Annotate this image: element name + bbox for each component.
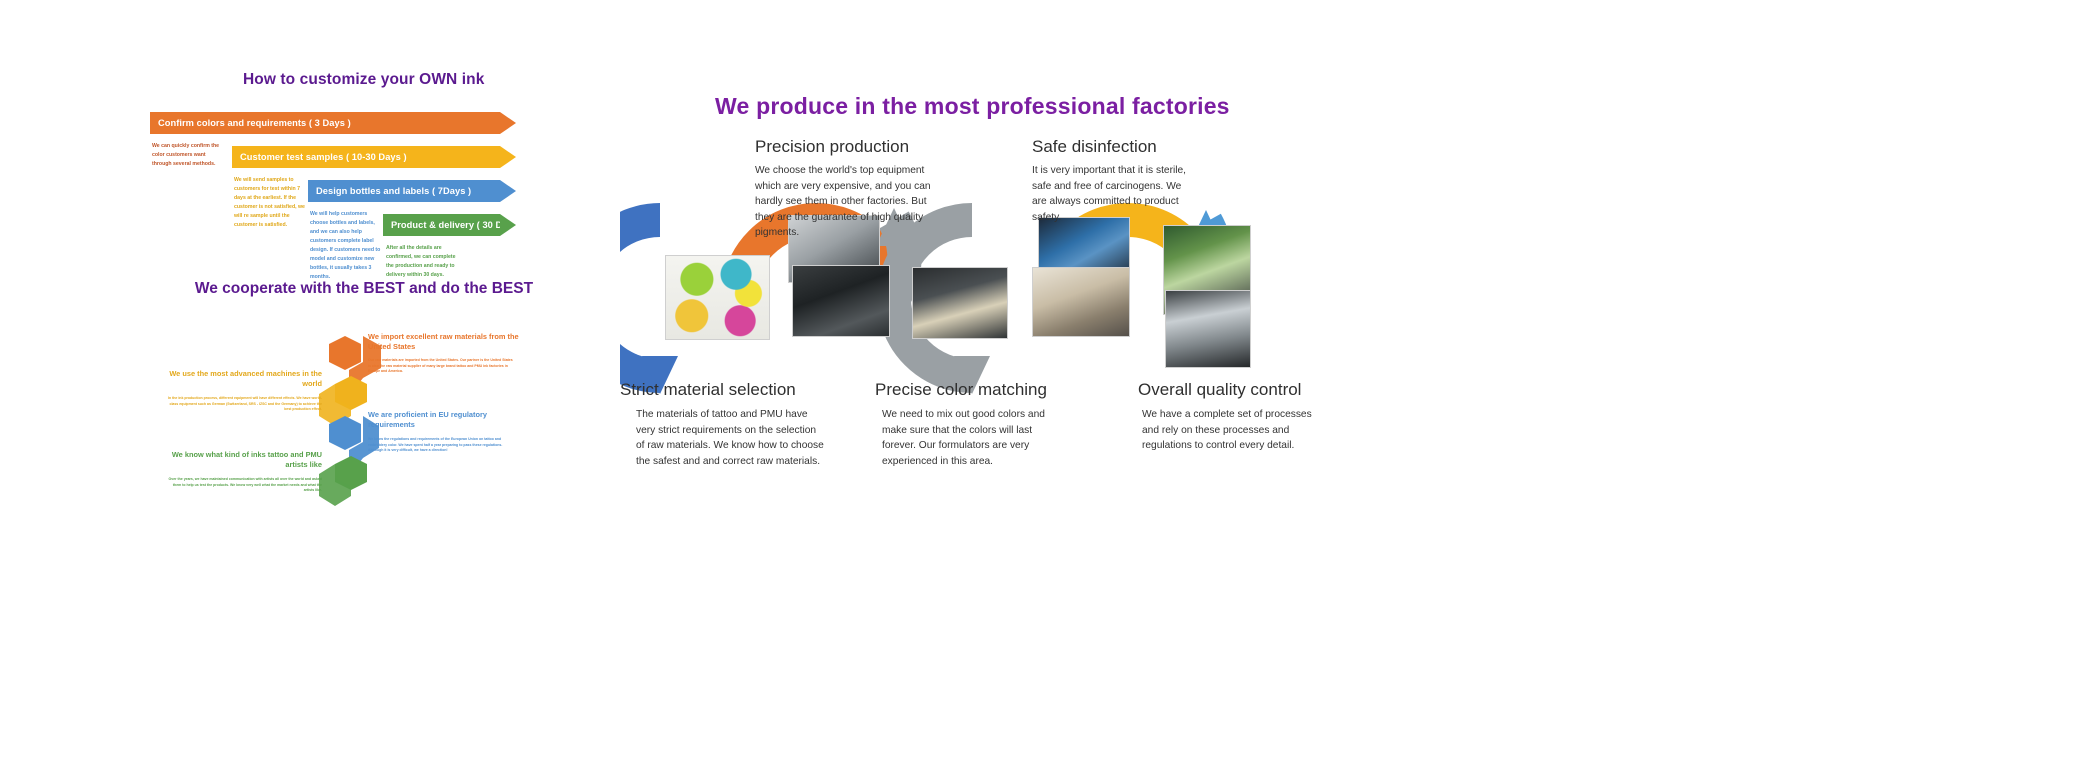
arrow-tip-icon	[500, 180, 516, 202]
step-body-confirm: We can quickly confirm the color custome…	[152, 142, 224, 169]
photo-quality-inspection	[1165, 290, 1251, 368]
step-arrow-delivery: Product & delivery ( 30 Days )	[383, 214, 500, 236]
photo-color-testing-table	[912, 267, 1008, 339]
hex-body-eu-regulatory: We know the regulations and requirements…	[368, 437, 516, 454]
arrow-tip-icon	[500, 112, 516, 134]
page-title-factories: We produce in the most professional fact…	[715, 93, 1230, 120]
page-root: How to customize your OWN ink Confirm co…	[0, 0, 2073, 758]
photo-lab-sample-trays	[1032, 267, 1130, 337]
hex-title-machines: We use the most advanced machines in the…	[150, 369, 322, 389]
step-arrow-design: Design bottles and labels ( 7Days )	[308, 180, 500, 202]
hex-body-raw-materials: Our raw materials are imported from the …	[368, 358, 516, 375]
photo-dark-equipment	[792, 265, 890, 337]
step-body-design: We will help customers choose bottles an…	[310, 210, 382, 282]
hex-body-artist-inks: Over the years, we have maintained commu…	[162, 477, 322, 494]
customize-ink-panel: How to customize your OWN ink Confirm co…	[150, 60, 570, 530]
feature-title-precision: Precision production	[755, 137, 909, 157]
step-body-delivery: After all the details are confirmed, we …	[386, 244, 458, 280]
feature-title-material-selection: Strict material selection	[620, 380, 796, 400]
hex-body-machines: In the ink production process, different…	[168, 396, 322, 413]
step-body-samples: We will send samples to customers for te…	[234, 176, 306, 230]
step-arrow-samples-label: Customer test samples ( 10-30 Days )	[240, 152, 407, 162]
page-title-cooperate: We cooperate with the BEST and do the BE…	[174, 280, 554, 298]
arrow-tip-icon	[500, 214, 516, 236]
hex-title-artist-inks: We know what kind of inks tattoo and PMU…	[150, 450, 322, 470]
factories-panel: We produce in the most professional fact…	[620, 75, 1340, 495]
step-arrow-confirm-label: Confirm colors and requirements ( 3 Days…	[158, 118, 351, 128]
hex-title-raw-materials: We import excellent raw materials from t…	[368, 332, 520, 352]
step-arrow-design-label: Design bottles and labels ( 7Days )	[316, 186, 471, 196]
process-steps-diagram: Confirm colors and requirements ( 3 Days…	[150, 112, 525, 332]
feature-body-color-matching: We need to mix out good colors and make …	[882, 407, 1062, 469]
arrow-tip-icon	[500, 146, 516, 168]
page-title-customize: How to customize your OWN ink	[243, 71, 484, 89]
hex-title-eu-regulatory: We are proficient in EU regulatory requi…	[368, 410, 520, 430]
feature-body-precision: We choose the world's top equipment whic…	[755, 163, 945, 241]
photo-pigment-powders	[665, 255, 770, 340]
feature-title-disinfection: Safe disinfection	[1032, 137, 1157, 157]
feature-body-material-selection: The materials of tattoo and PMU have ver…	[636, 407, 826, 469]
step-arrow-samples: Customer test samples ( 10-30 Days )	[232, 146, 500, 168]
feature-title-color-matching: Precise color matching	[875, 380, 1047, 400]
feature-body-quality-control: We have a complete set of processes and …	[1142, 407, 1317, 454]
feature-title-quality-control: Overall quality control	[1138, 380, 1301, 400]
hexagon-chain-diagram: We import excellent raw materials from t…	[150, 322, 570, 517]
feature-body-disinfection: It is very important that it is sterile,…	[1032, 163, 1192, 225]
step-arrow-confirm: Confirm colors and requirements ( 3 Days…	[150, 112, 500, 134]
